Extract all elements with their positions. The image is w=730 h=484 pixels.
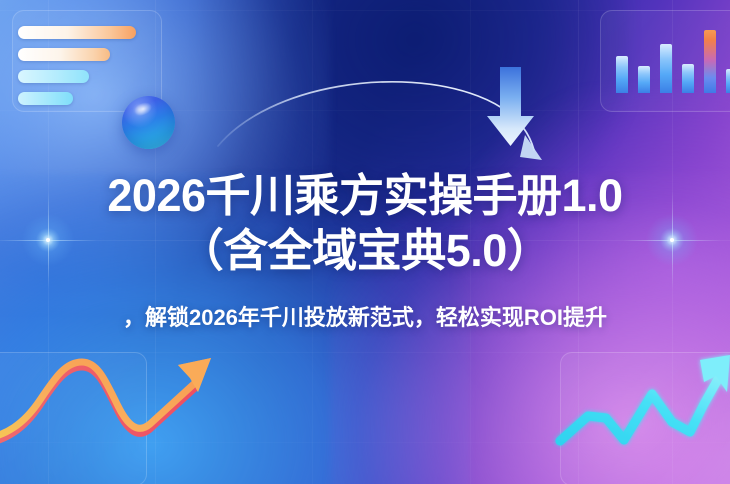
panel-frame-bottom-right [560,352,730,484]
bar-chart-bars [616,21,730,93]
progress-bar-2 [18,48,110,61]
progress-bar-4 [18,92,73,105]
promo-banner: 2026千川乘方实操手册1.0 （含全域宝典5.0） ，解锁2026年千川投放新… [0,0,730,484]
progress-bar-1 [18,26,136,39]
bar-chart-bar-3 [660,44,672,93]
bar-chart [604,12,730,104]
bar-chart-bar-2 [638,66,650,93]
page-title-line-1: 2026千川乘方实操手册1.0 [0,168,730,223]
bar-chart-bar-5 [704,30,716,93]
progress-bar-3 [18,70,89,83]
panel-frame-bottom-left [0,352,147,484]
bar-chart-bar-6 [726,69,730,93]
bar-chart-bar-1 [616,56,628,93]
page-title-line-2: （含全域宝典5.0） [0,223,730,278]
progress-bars-group [18,26,136,114]
title-block: 2026千川乘方实操手册1.0 （含全域宝典5.0） [0,168,730,278]
page-subtitle: ，解锁2026年千川投放新范式，轻松实现ROI提升 [0,303,730,333]
bar-chart-bar-4 [682,64,694,93]
glossy-sphere [122,96,175,149]
